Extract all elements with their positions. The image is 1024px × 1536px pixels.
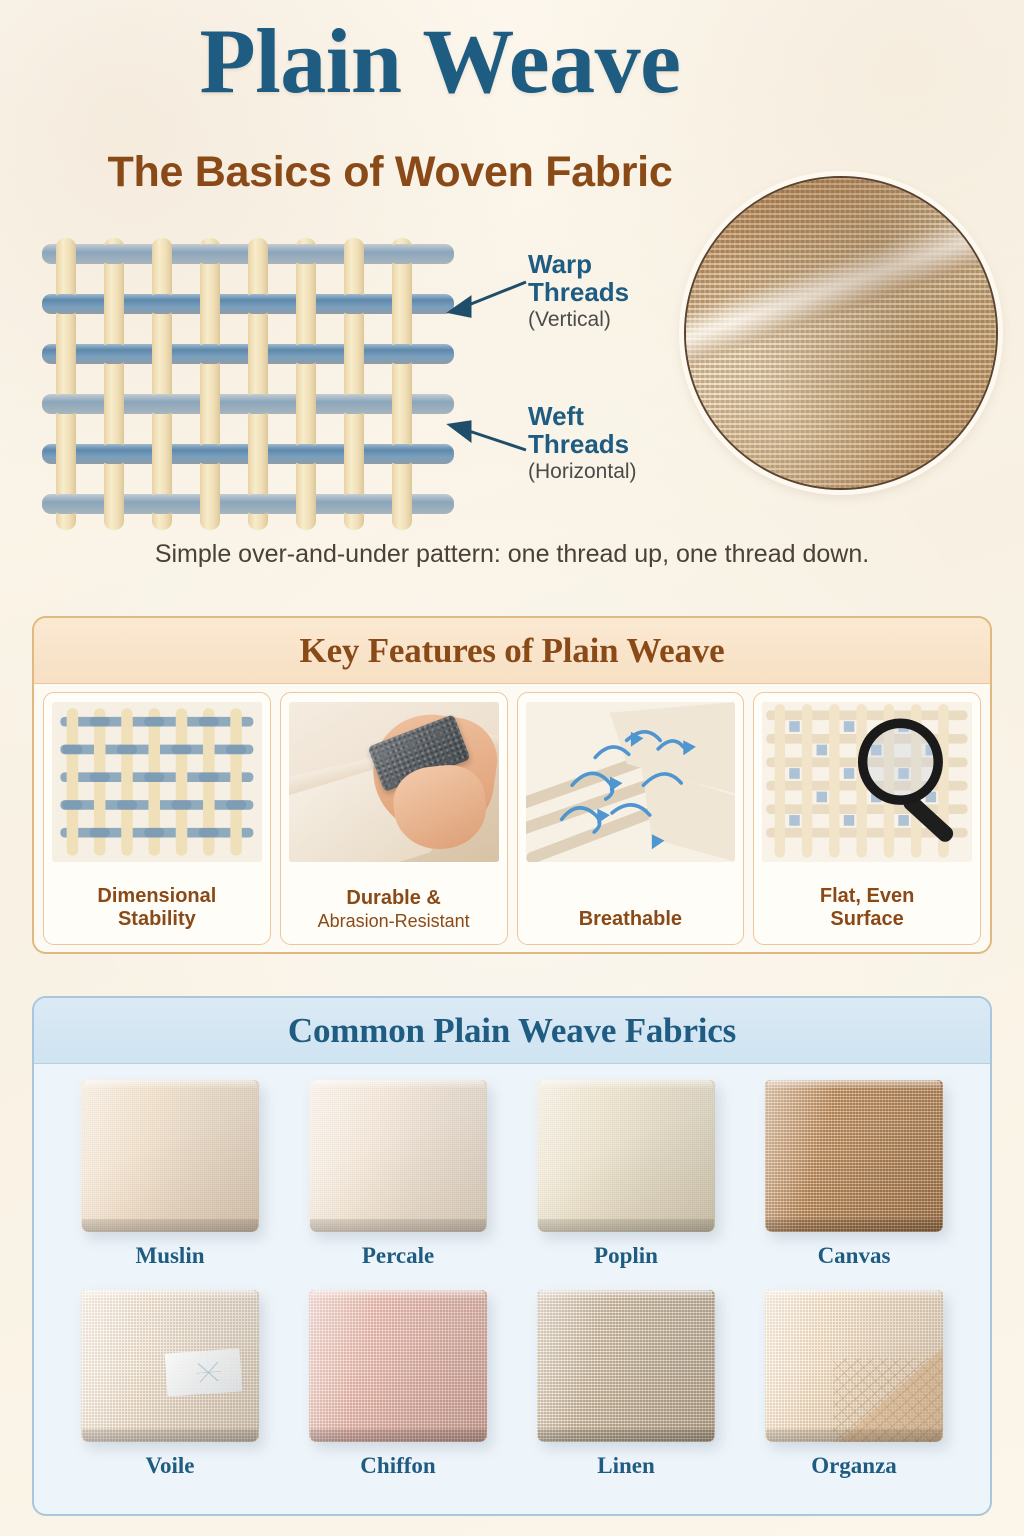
fabric-closeup-photo <box>684 176 998 490</box>
feature-label-dimensional-stability: Dimensional Stability <box>97 885 216 934</box>
fabric-swatch-chiffon <box>309 1290 487 1442</box>
fabric-top-fold <box>539 1290 713 1299</box>
feature-label-line2: Abrasion-Resistant <box>318 911 470 932</box>
fabric-top-fold <box>311 1290 485 1299</box>
fabric-name-label: Poplin <box>594 1243 658 1269</box>
feature-card-durable-abrasion-resistant[interactable]: Durable & Abrasion-Resistant <box>280 692 508 945</box>
key-features-header: Key Features of Plain Weave <box>34 618 990 684</box>
airflow-icon <box>526 702 736 862</box>
common-fabrics-header: Common Plain Weave Fabrics <box>34 998 990 1064</box>
fabric-name-label: Voile <box>146 1453 195 1479</box>
feature-label-line2: Stability <box>97 908 216 932</box>
annotation-warp: Warp Threads (Vertical) <box>528 250 629 332</box>
fabric-hem <box>310 1219 486 1232</box>
feature-label-line1: Durable & <box>318 887 470 911</box>
feature-label-line1: Breathable <box>579 908 682 932</box>
fabric-name-label: Chiffon <box>360 1453 435 1479</box>
fabric-swatch-poplin <box>537 1080 715 1232</box>
feature-card-breathable[interactable]: Breathable <box>517 692 745 945</box>
fabric-top-fold <box>311 1080 485 1089</box>
fabric-swatch-percale <box>309 1080 487 1232</box>
fabric-swatch-voile <box>81 1290 259 1442</box>
fabric-name-label: Linen <box>597 1453 655 1479</box>
fabric-hem <box>310 1429 486 1442</box>
diagram-caption: Simple over-and-under pattern: one threa… <box>0 540 1024 569</box>
fabric-name-label: Muslin <box>135 1243 204 1269</box>
weft-label-line1: Weft <box>528 401 584 431</box>
common-fabrics-heading: Common Plain Weave Fabrics <box>288 1011 736 1051</box>
fabric-cell-linen[interactable]: Linen <box>512 1290 740 1500</box>
weave-illustration-icon <box>42 238 454 530</box>
feature-card-flat-even-surface[interactable]: Flat, Even Surface <box>753 692 981 945</box>
fabric-cloth <box>765 1290 943 1442</box>
fabric-cloth <box>81 1080 259 1232</box>
fabric-name-label: Organza <box>811 1453 897 1479</box>
fabric-cell-poplin[interactable]: Poplin <box>512 1080 740 1290</box>
key-features-heading: Key Features of Plain Weave <box>300 631 725 671</box>
abrasion-hand-icon <box>289 702 499 862</box>
fabric-cell-muslin[interactable]: Muslin <box>56 1080 284 1290</box>
fabric-hem <box>766 1429 942 1442</box>
organza-diag-detail <box>765 1290 943 1442</box>
fabric-hem <box>82 1219 258 1232</box>
warp-label-line2: Threads <box>528 277 629 307</box>
weft-label-line2: Threads <box>528 429 629 459</box>
fabric-cloth <box>537 1290 715 1442</box>
fabric-cell-canvas[interactable]: Canvas <box>740 1080 968 1290</box>
fabric-top-fold <box>767 1080 941 1089</box>
fabric-name-label: Percale <box>362 1243 434 1269</box>
page-subtitle: The Basics of Woven Fabric <box>0 148 780 197</box>
feature-image-durable <box>289 702 499 862</box>
common-fabrics-panel: Common Plain Weave Fabrics MuslinPercale… <box>32 996 992 1516</box>
fabric-name-label: Canvas <box>818 1243 891 1269</box>
fabric-cloth <box>309 1080 487 1232</box>
voile-patch-detail <box>165 1348 243 1396</box>
feature-image-breathable <box>526 702 736 862</box>
page-title: Plain Weave <box>0 14 880 110</box>
feature-image-dimensional-stability <box>52 702 262 862</box>
annotation-weft: Weft Threads (Horizontal) <box>528 402 637 484</box>
weft-label-sub: (Horizontal) <box>528 460 637 484</box>
fabric-swatch-grid: MuslinPercalePoplinCanvasVoileChiffonLin… <box>34 1064 990 1514</box>
feature-card-dimensional-stability[interactable]: Dimensional Stability <box>43 692 271 945</box>
infographic-page: Plain Weave The Basics of Woven Fabric <box>0 0 1024 1536</box>
fabric-top-fold <box>539 1080 713 1089</box>
feature-label-durable: Durable & Abrasion-Resistant <box>318 887 470 934</box>
fabric-cell-chiffon[interactable]: Chiffon <box>284 1290 512 1500</box>
warp-label-line1: Warp <box>528 249 592 279</box>
feature-label-line2: Surface <box>820 908 914 932</box>
fabric-hem <box>538 1429 714 1442</box>
key-features-panel: Key Features of Plain Weave <box>32 616 992 954</box>
fabric-swatch-muslin <box>81 1080 259 1232</box>
feature-label-breathable: Breathable <box>579 908 682 934</box>
fabric-hem <box>82 1429 258 1442</box>
fabric-cloth <box>537 1080 715 1232</box>
fabric-hem <box>766 1219 942 1232</box>
feature-label-line1: Flat, Even <box>820 885 914 909</box>
fabric-swatch-linen <box>537 1290 715 1442</box>
feature-label-line1: Dimensional <box>97 885 216 909</box>
fabric-swatch-canvas <box>765 1080 943 1232</box>
fabric-cloth <box>81 1290 259 1442</box>
fabric-cell-voile[interactable]: Voile <box>56 1290 284 1500</box>
fabric-cloth <box>765 1080 943 1232</box>
weave-grid-icon <box>52 702 262 862</box>
fabric-cell-percale[interactable]: Percale <box>284 1080 512 1290</box>
feature-label-flat-surface: Flat, Even Surface <box>820 885 914 934</box>
fabric-top-fold <box>83 1290 257 1299</box>
fabric-top-fold <box>83 1080 257 1089</box>
fabric-cloth <box>309 1290 487 1442</box>
fabric-top-fold <box>767 1290 941 1299</box>
photo-shading <box>686 178 996 488</box>
fabric-hem <box>538 1219 714 1232</box>
fabric-cell-organza[interactable]: Organza <box>740 1290 968 1500</box>
fabric-swatch-organza <box>765 1290 943 1442</box>
feature-image-flat-surface <box>762 702 972 862</box>
feature-card-row: Dimensional Stability Durable & <box>34 684 990 954</box>
warp-label-sub: (Vertical) <box>528 308 629 332</box>
plain-weave-diagram <box>42 238 454 530</box>
magnifier-icon <box>762 702 972 862</box>
